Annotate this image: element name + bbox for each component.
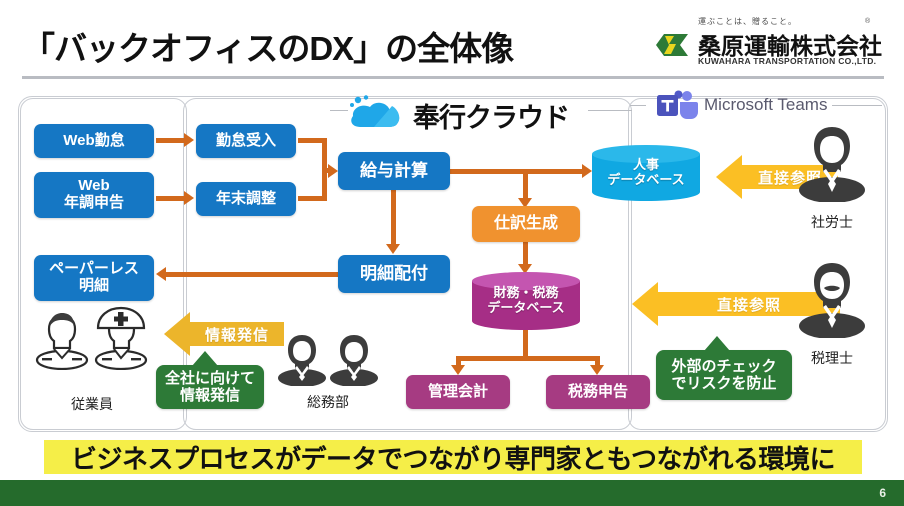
connector-kyuyo-jinjidb (450, 169, 586, 174)
bottom-banner-text: ビジネスプロセスがデータでつながり専門家ともつながれる環境に (44, 440, 862, 474)
connector-arrowhead (386, 244, 400, 254)
callout-gaibu-check[interactable]: 外部のチェック でリスクを防止 (656, 350, 792, 400)
node-meisai-haifu[interactable]: 明細配付 (338, 255, 450, 293)
node-shiwake-seisei[interactable]: 仕訳生成 (472, 206, 580, 242)
callout-body: 外部のチェック でリスクを防止 (656, 350, 792, 400)
arrow-head (164, 312, 190, 356)
person-sharoshi-icon (796, 122, 868, 207)
callout-body: 全社に向けて 情報発信 (156, 365, 264, 409)
footer-bar (0, 480, 904, 506)
database-label-line2: データベース (487, 301, 564, 316)
connector-nenmatsu-kyuyo-vert (322, 171, 327, 201)
kuwahara-k-mark-icon (652, 30, 692, 60)
database-jinji[interactable]: 人事 データベース (592, 145, 700, 201)
bangyo-rule-right (588, 110, 632, 111)
connector-zaimudb-branch (456, 356, 600, 361)
callout-line2: でリスクを防止 (671, 375, 776, 392)
node-web-nencho-shinkoku[interactable]: Web 年調申告 (34, 172, 154, 218)
cloud-icon (344, 94, 414, 130)
node-kintai-ukeire[interactable]: 勤怠受入 (196, 124, 296, 158)
teams-label: Microsoft Teams (704, 95, 827, 115)
connector-webkintai-ukeire (156, 138, 184, 143)
node-label-line2: 年調申告 (64, 195, 124, 212)
connector-arrowhead (184, 133, 194, 147)
microsoft-teams-logo: Microsoft Teams (648, 90, 848, 122)
node-label: 仕訳生成 (494, 215, 558, 233)
callout-zensha-joho-hasshin[interactable]: 全社に向けて 情報発信 (156, 365, 264, 409)
connector-arrowhead (184, 191, 194, 205)
node-label: 年末調整 (216, 191, 276, 208)
callout-notch (192, 351, 218, 366)
teams-rule-left (630, 105, 646, 106)
node-paperless-meisai[interactable]: ペーパーレス 明細 (34, 255, 154, 301)
person-somubu-male-icon (328, 330, 380, 391)
page-number: 6 (879, 486, 886, 500)
callout-line1: 外部のチェック (671, 358, 776, 375)
database-zaimu-zeimu[interactable]: 財務・税務 データベース (472, 272, 580, 330)
connector-kyuyo-meisai (391, 190, 396, 246)
person-caption-somubu: 総務部 (276, 392, 380, 412)
node-label-line1: ペーパーレス (49, 261, 139, 278)
arrow-head (632, 282, 658, 326)
node-label: 勤怠受入 (216, 133, 276, 150)
node-label-line1: Web (64, 178, 124, 195)
node-label: 管理会計 (428, 384, 488, 401)
database-label: 財務・税務 データベース (472, 272, 580, 330)
connector-arrowhead (451, 365, 465, 375)
person-employee-worker-icon (92, 304, 150, 375)
node-label: 給与計算 (360, 161, 428, 180)
node-kanri-kaikei[interactable]: 管理会計 (406, 375, 510, 409)
node-web-kintai[interactable]: Web勤怠 (34, 124, 154, 158)
person-caption-zeirishi: 税理士 (786, 348, 878, 368)
connector-meisai-paperless (166, 272, 340, 277)
database-label-line2: データベース (607, 173, 684, 188)
arrow-label: 情報発信 (190, 322, 284, 346)
bangyo-cloud-label: 奉行クラウド (413, 96, 569, 135)
person-caption-jugyoin: 従業員 (34, 394, 150, 414)
node-label-line2: 明細 (49, 278, 139, 295)
connector-arrowhead (156, 267, 166, 281)
node-kyuyo-keisan[interactable]: 給与計算 (338, 152, 450, 190)
registered-mark: ® (865, 18, 870, 25)
node-zeimu-shinkoku[interactable]: 税務申告 (546, 375, 650, 409)
node-label: 税務申告 (568, 384, 628, 401)
logo-tagline: 運ぶことは、贈ること。 (698, 16, 797, 27)
connector-zaimudb-down (523, 330, 528, 358)
slide-canvas: 「バックオフィスのDX」の全体像 運ぶことは、贈ること。 ® 桑原運輸株式会社 … (0, 0, 904, 506)
node-label: Web勤怠 (63, 133, 124, 150)
connector-webnencho-nenmatsu (156, 196, 184, 201)
person-zeirishi-icon (796, 258, 868, 343)
teams-icon (656, 90, 698, 120)
title-divider (22, 76, 884, 79)
person-employee-office-icon (34, 308, 90, 375)
callout-line1: 全社に向けて (165, 370, 255, 387)
logo-company-en: KUWAHARA TRANSPORTATION CO.,LTD. (698, 56, 876, 66)
company-logo: 運ぶことは、贈ること。 ® 桑原運輸株式会社 KUWAHARA TRANSPOR… (652, 16, 884, 72)
arrow-joho-hasshin: 情報発信 (164, 312, 284, 356)
person-somubu-female-icon (276, 328, 328, 391)
database-label-line1: 人事 (633, 158, 659, 173)
callout-notch (704, 336, 730, 351)
database-label: 人事 データベース (592, 145, 700, 201)
bangyo-cloud-logo: 奉行クラウド (340, 92, 580, 134)
node-label: 明細配付 (360, 264, 428, 283)
database-label-line1: 財務・税務 (493, 286, 558, 301)
page-title: 「バックオフィスのDX」の全体像 (22, 22, 513, 70)
node-nenmatsu-chosei[interactable]: 年末調整 (196, 182, 296, 216)
callout-line2: 情報発信 (165, 387, 255, 404)
arrow-head (716, 155, 742, 199)
connector-arrowhead (328, 164, 338, 178)
person-caption-sharoshi: 社労士 (786, 212, 878, 232)
connector-arrowhead (582, 164, 592, 178)
connector-arrowhead (590, 365, 604, 375)
